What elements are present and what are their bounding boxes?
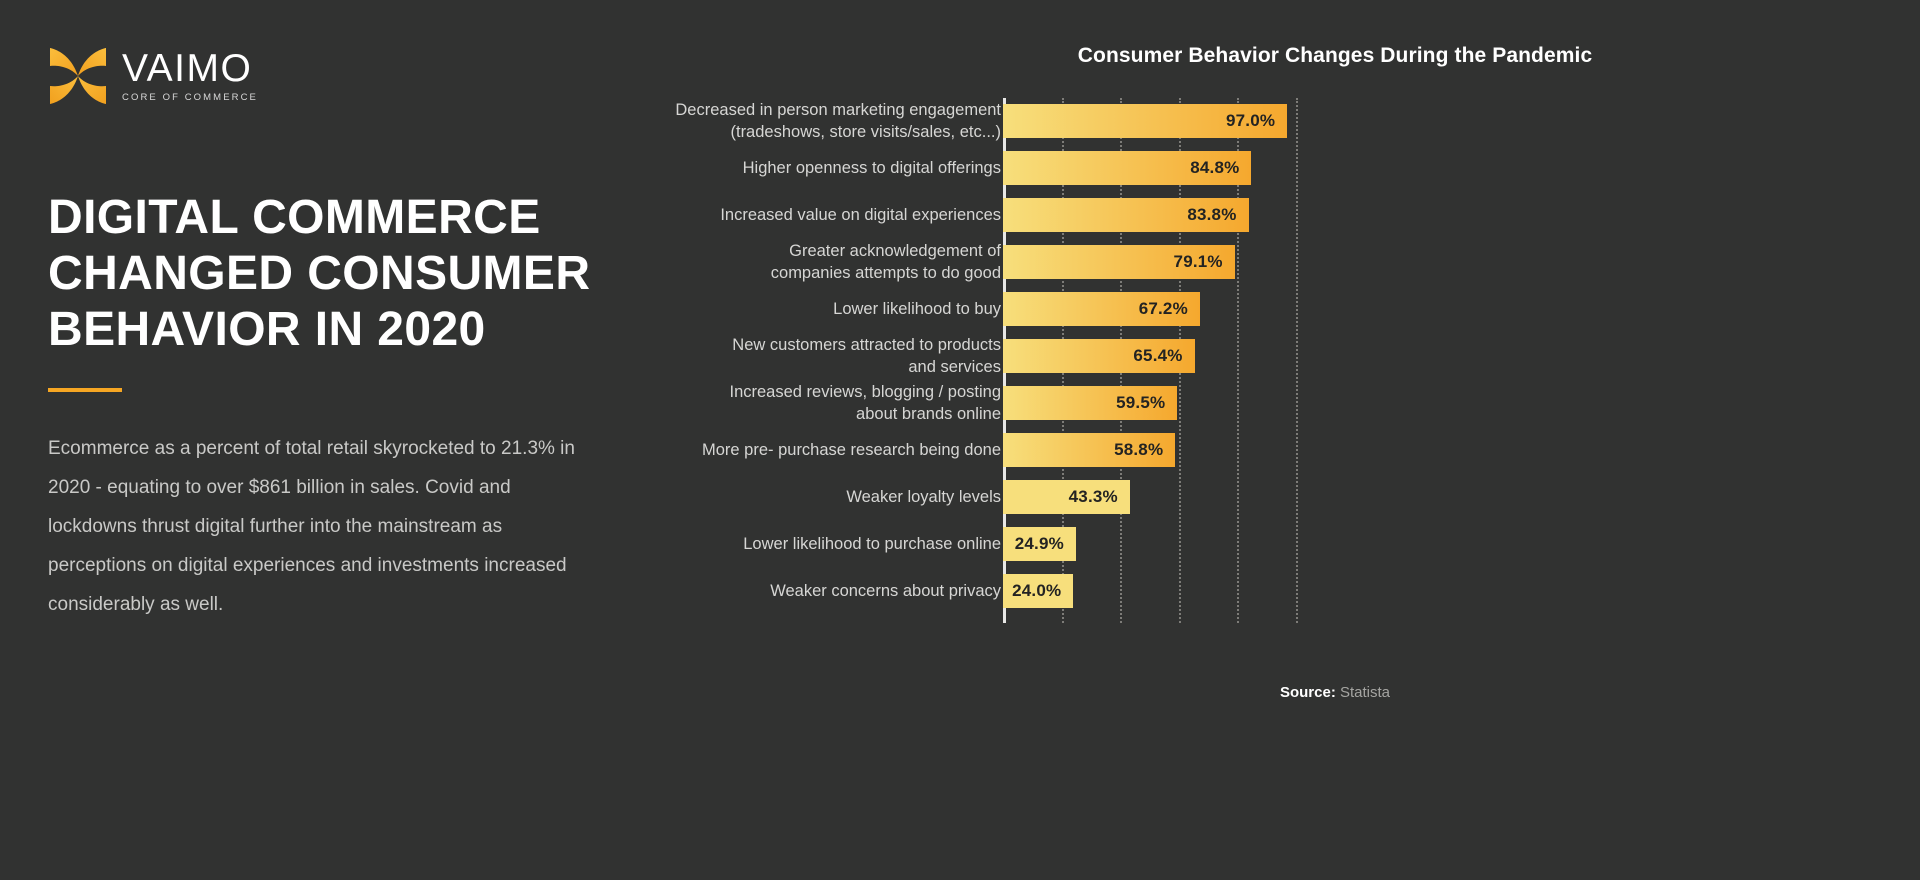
- source-label: Source:: [1280, 684, 1336, 701]
- chart-row: Greater acknowledgement of companies att…: [790, 245, 1880, 279]
- chart-bar: 79.1%: [1003, 245, 1235, 279]
- chart-category-label: Decreased in person marketing engagement…: [651, 99, 1001, 144]
- chart-bar: 83.8%: [1003, 198, 1249, 232]
- chart-title: Consumer Behavior Changes During the Pan…: [790, 44, 1880, 68]
- chart-bar: 67.2%: [1003, 292, 1200, 326]
- chart-bar: 24.0%: [1003, 574, 1073, 608]
- chart-panel: Consumer Behavior Changes During the Pan…: [790, 44, 1880, 834]
- chart-bar-value: 24.0%: [1012, 581, 1073, 601]
- chart-bar-value: 24.9%: [1015, 534, 1076, 554]
- chart-bar-value: 67.2%: [1139, 299, 1200, 319]
- chart-bar: 84.8%: [1003, 151, 1251, 185]
- chart-bar-value: 58.8%: [1114, 440, 1175, 460]
- chart-bar: 65.4%: [1003, 339, 1195, 373]
- chart-row: Higher openness to digital offerings84.8…: [790, 151, 1880, 185]
- chart-bar-value: 65.4%: [1133, 346, 1194, 366]
- chart-category-label: Weaker loyalty levels: [651, 486, 1001, 508]
- chart-row: More pre- purchase research being done58…: [790, 433, 1880, 467]
- brand-wordmark: VAIMO CORE OF COMMERCE: [122, 49, 258, 103]
- chart-bar-value: 79.1%: [1174, 252, 1235, 272]
- chart-bar-value: 97.0%: [1226, 111, 1287, 131]
- chart-row: Increased reviews, blogging / posting ab…: [790, 386, 1880, 420]
- chart-row: Weaker loyalty levels43.3%: [790, 480, 1880, 514]
- chart-category-label: Weaker concerns about privacy: [651, 580, 1001, 602]
- chart-row: Weaker concerns about privacy24.0%: [790, 574, 1880, 608]
- chart-category-label: New customers attracted to products and …: [651, 334, 1001, 379]
- brand-name: VAIMO: [122, 49, 258, 88]
- chart-row: New customers attracted to products and …: [790, 339, 1880, 373]
- title-divider: [48, 388, 122, 392]
- chart-bar: 59.5%: [1003, 386, 1177, 420]
- chart-rows: Decreased in person marketing engagement…: [790, 98, 1880, 623]
- bar-chart: Decreased in person marketing engagement…: [790, 98, 1880, 623]
- chart-bar-value: 84.8%: [1190, 158, 1251, 178]
- chart-bar: 97.0%: [1003, 104, 1287, 138]
- chart-row: Decreased in person marketing engagement…: [790, 104, 1880, 138]
- chart-bar: 24.9%: [1003, 527, 1076, 561]
- page-title: DIGITAL COMMERCE CHANGED CONSUMER BEHAVI…: [48, 190, 668, 358]
- vaimo-x-logo-icon: [48, 45, 108, 107]
- chart-category-label: Increased value on digital experiences: [651, 204, 1001, 226]
- chart-bar: 58.8%: [1003, 433, 1175, 467]
- infographic-page: VAIMO CORE OF COMMERCE DIGITAL COMMERCE …: [0, 0, 1920, 880]
- chart-bar-value: 43.3%: [1069, 487, 1130, 507]
- left-panel: VAIMO CORE OF COMMERCE DIGITAL COMMERCE …: [48, 40, 748, 625]
- chart-category-label: Increased reviews, blogging / posting ab…: [651, 381, 1001, 426]
- chart-category-label: Lower likelihood to buy: [651, 298, 1001, 320]
- chart-category-label: Lower likelihood to purchase online: [651, 533, 1001, 555]
- chart-row: Lower likelihood to purchase online24.9%: [790, 527, 1880, 561]
- chart-row: Increased value on digital experiences83…: [790, 198, 1880, 232]
- chart-category-label: Greater acknowledgement of companies att…: [651, 240, 1001, 285]
- source-value: Statista: [1340, 684, 1390, 701]
- brand-logo: VAIMO CORE OF COMMERCE: [48, 40, 748, 112]
- chart-category-label: More pre- purchase research being done: [651, 439, 1001, 461]
- body-paragraph: Ecommerce as a percent of total retail s…: [48, 430, 588, 625]
- chart-bar-value: 59.5%: [1116, 393, 1177, 413]
- chart-row: Lower likelihood to buy67.2%: [790, 292, 1880, 326]
- chart-bar-value: 83.8%: [1187, 205, 1248, 225]
- source-note: Source: Statista: [790, 684, 1880, 701]
- chart-category-label: Higher openness to digital offerings: [651, 157, 1001, 179]
- chart-bar: 43.3%: [1003, 480, 1130, 514]
- brand-tagline: CORE OF COMMERCE: [122, 93, 258, 103]
